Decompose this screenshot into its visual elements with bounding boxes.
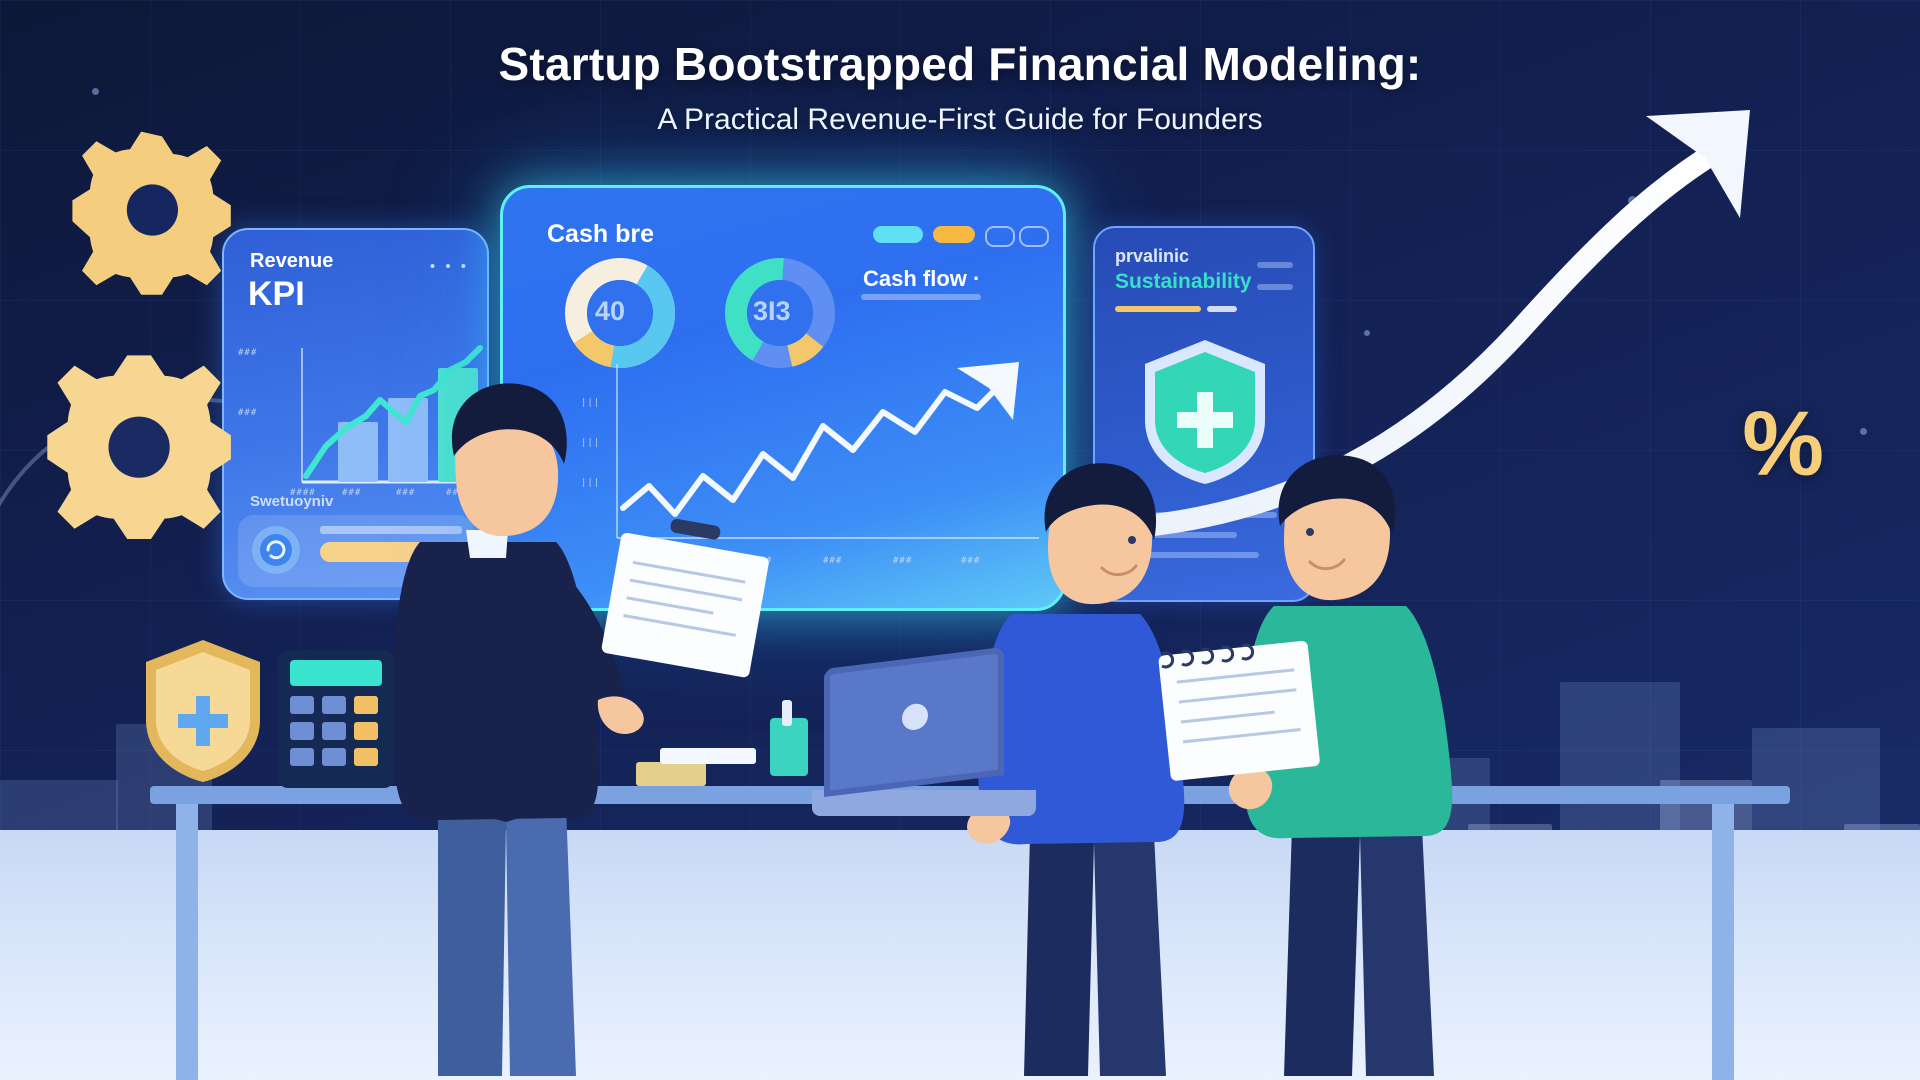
status-pill-outline[interactable]: [1019, 226, 1049, 247]
shield-icon: [140, 636, 266, 788]
calculator-display: [290, 660, 382, 686]
pen: [782, 700, 792, 726]
gear-icon: [82, 130, 242, 290]
hero-illustration: Startup Bootstrapped Financial Modeling:…: [0, 0, 1920, 1080]
cashflow-x-tick: ###: [823, 556, 842, 566]
page-title: Startup Bootstrapped Financial Modeling:: [0, 38, 1920, 91]
kpi-title: KPI: [248, 275, 305, 314]
cashflow-x-tick: ###: [893, 556, 912, 566]
gear-icon: [66, 352, 236, 522]
desk-leg: [1712, 804, 1734, 1080]
cash-flow-label: Cash flow ·: [863, 266, 980, 292]
page-subtitle: A Practical Revenue-First Guide for Foun…: [0, 103, 1920, 137]
status-pill-cyan[interactable]: [873, 226, 923, 243]
notepad-icon: [1148, 638, 1328, 790]
kpi-y-tick: ###: [238, 408, 257, 418]
donut-right-value: 3I3: [753, 296, 791, 327]
donut-left-value: 40: [595, 296, 625, 327]
overflow-menu-icon[interactable]: • • •: [430, 258, 469, 275]
kpi-footer-label: Swetuoyniv: [250, 493, 333, 510]
kpi-kicker: Revenue: [250, 250, 333, 273]
desk-leg: [176, 804, 198, 1080]
status-pill-amber[interactable]: [933, 226, 975, 243]
status-pill-outline[interactable]: [985, 226, 1015, 247]
pen-cup: [770, 718, 808, 776]
headline-block: Startup Bootstrapped Financial Modeling:…: [0, 38, 1920, 137]
kpi-x-tick: ###: [342, 488, 361, 498]
cash-flow-underline: [861, 294, 981, 300]
laptop-icon[interactable]: [824, 658, 1036, 816]
person-presenter: [380, 352, 710, 1080]
kpi-y-tick: ###: [238, 348, 257, 358]
dashboard-title: Cash bre: [547, 220, 654, 249]
refresh-icon[interactable]: [248, 522, 304, 578]
calculator-icon[interactable]: [278, 650, 394, 788]
laptop-screen: [824, 647, 1004, 797]
